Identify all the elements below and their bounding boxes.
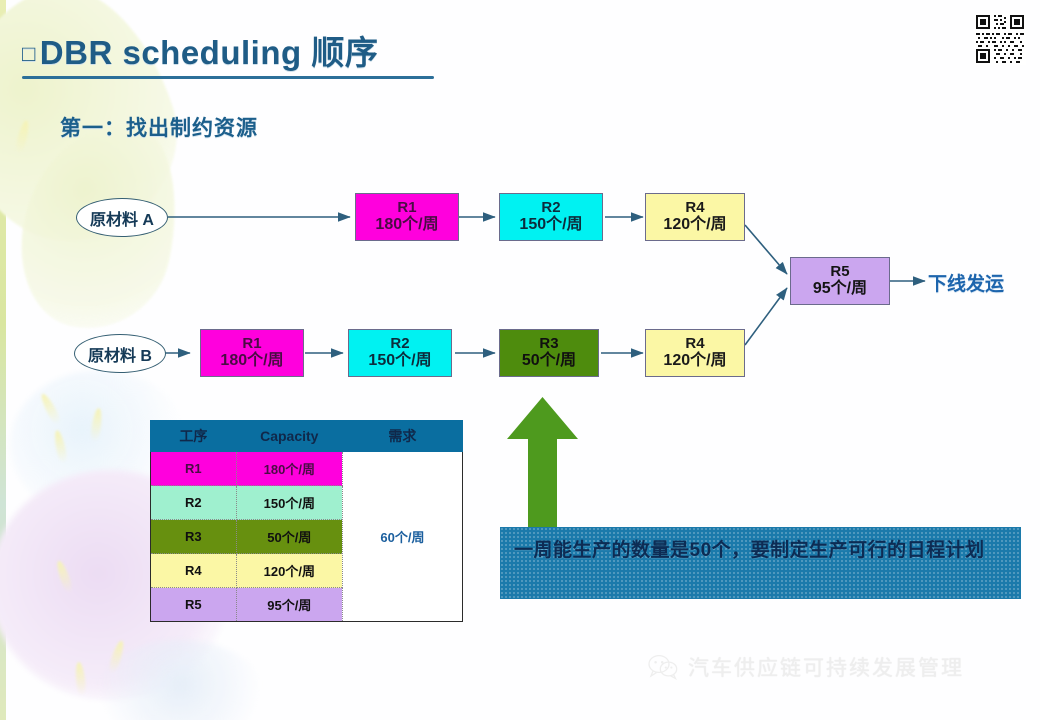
flow-node-capacity: 180个/周: [220, 352, 283, 371]
table-cell-capacity: 50个/周: [236, 520, 342, 554]
table-header-capacity: Capacity: [236, 421, 342, 452]
table-cell-capacity: 120个/周: [236, 554, 342, 588]
table-header-demand: 需求: [342, 421, 462, 452]
table-cell-process: R2: [151, 486, 237, 520]
flow-node-capacity: 50个/周: [522, 352, 576, 371]
footer-account-name: 汽车供应链可持续发展管理: [688, 652, 964, 682]
flow-node-capacity: 120个/周: [663, 216, 726, 235]
flow-node-name: R4: [685, 199, 704, 217]
capacity-table: 工序 Capacity 需求 R1 180个/周 60个/周 R2 150个/周…: [150, 420, 463, 622]
title-underline: [22, 76, 434, 79]
table-cell-process: R1: [151, 452, 237, 486]
wechat-icon: [648, 654, 678, 680]
output-label-shipping: 下线发运: [928, 269, 1004, 296]
flow-node-name: R3: [539, 335, 558, 353]
flow-node-capacity: 150个/周: [368, 352, 431, 371]
table-cell-process: R4: [151, 554, 237, 588]
flow-node-b-r4[interactable]: R4 120个/周: [645, 329, 745, 377]
page-title: □DBR scheduling 顺序: [22, 26, 452, 74]
table-cell-capacity: 95个/周: [236, 588, 342, 622]
flow-node-a-r4[interactable]: R4 120个/周: [645, 193, 745, 241]
flow-node-a-r2[interactable]: R2 150个/周: [499, 193, 603, 241]
slide-canvas: □DBR scheduling 顺序 第一：找出制约资源: [0, 0, 1040, 720]
page-title-text: DBR scheduling 顺序: [40, 34, 379, 71]
flow-node-capacity: 180个/周: [375, 216, 438, 235]
slide-subtitle: 第一：找出制约资源: [60, 112, 258, 142]
flow-node-capacity: 150个/周: [519, 216, 582, 235]
qr-code-icon[interactable]: [974, 13, 1026, 65]
footer-watermark: 汽车供应链可持续发展管理: [648, 652, 964, 682]
flow-node-name: R2: [541, 199, 560, 217]
callout-banner-text: 一周能生产的数量是50个，要制定生产可行的日程计划: [514, 537, 1009, 565]
slide-title-block: □DBR scheduling 顺序: [22, 26, 452, 79]
table-header-process: 工序: [151, 421, 237, 452]
flow-node-capacity: 120个/周: [663, 352, 726, 371]
flow-node-a-r1[interactable]: R1 180个/周: [355, 193, 459, 241]
flow-node-name: R1: [242, 335, 261, 353]
flow-node-b-r2[interactable]: R2 150个/周: [348, 329, 452, 377]
flow-node-name: R5: [830, 263, 849, 281]
flow-node-name: R2: [390, 335, 409, 353]
table-cell-demand: 60个/周: [342, 452, 462, 622]
flow-node-name: R4: [685, 335, 704, 353]
table-row: R1 180个/周 60个/周: [151, 452, 463, 486]
table-cell-capacity: 180个/周: [236, 452, 342, 486]
flow-node-name: R1: [397, 199, 416, 217]
callout-banner: 一周能生产的数量是50个，要制定生产可行的日程计划: [500, 527, 1021, 599]
flow-node-capacity: 95个/周: [813, 280, 867, 299]
table-header-row: 工序 Capacity 需求: [151, 421, 463, 452]
table-cell-process: R5: [151, 588, 237, 622]
up-arrow-icon: [505, 395, 580, 530]
bullet-square-icon: □: [22, 41, 36, 66]
source-node-material-b[interactable]: 原材料 B: [74, 334, 166, 373]
source-node-material-a[interactable]: 原材料 A: [76, 198, 168, 237]
flow-node-r5[interactable]: R5 95个/周: [790, 257, 890, 305]
table-cell-capacity: 150个/周: [236, 486, 342, 520]
flow-node-b-r3[interactable]: R3 50个/周: [499, 329, 599, 377]
flow-node-b-r1[interactable]: R1 180个/周: [200, 329, 304, 377]
table-cell-process: R3: [151, 520, 237, 554]
